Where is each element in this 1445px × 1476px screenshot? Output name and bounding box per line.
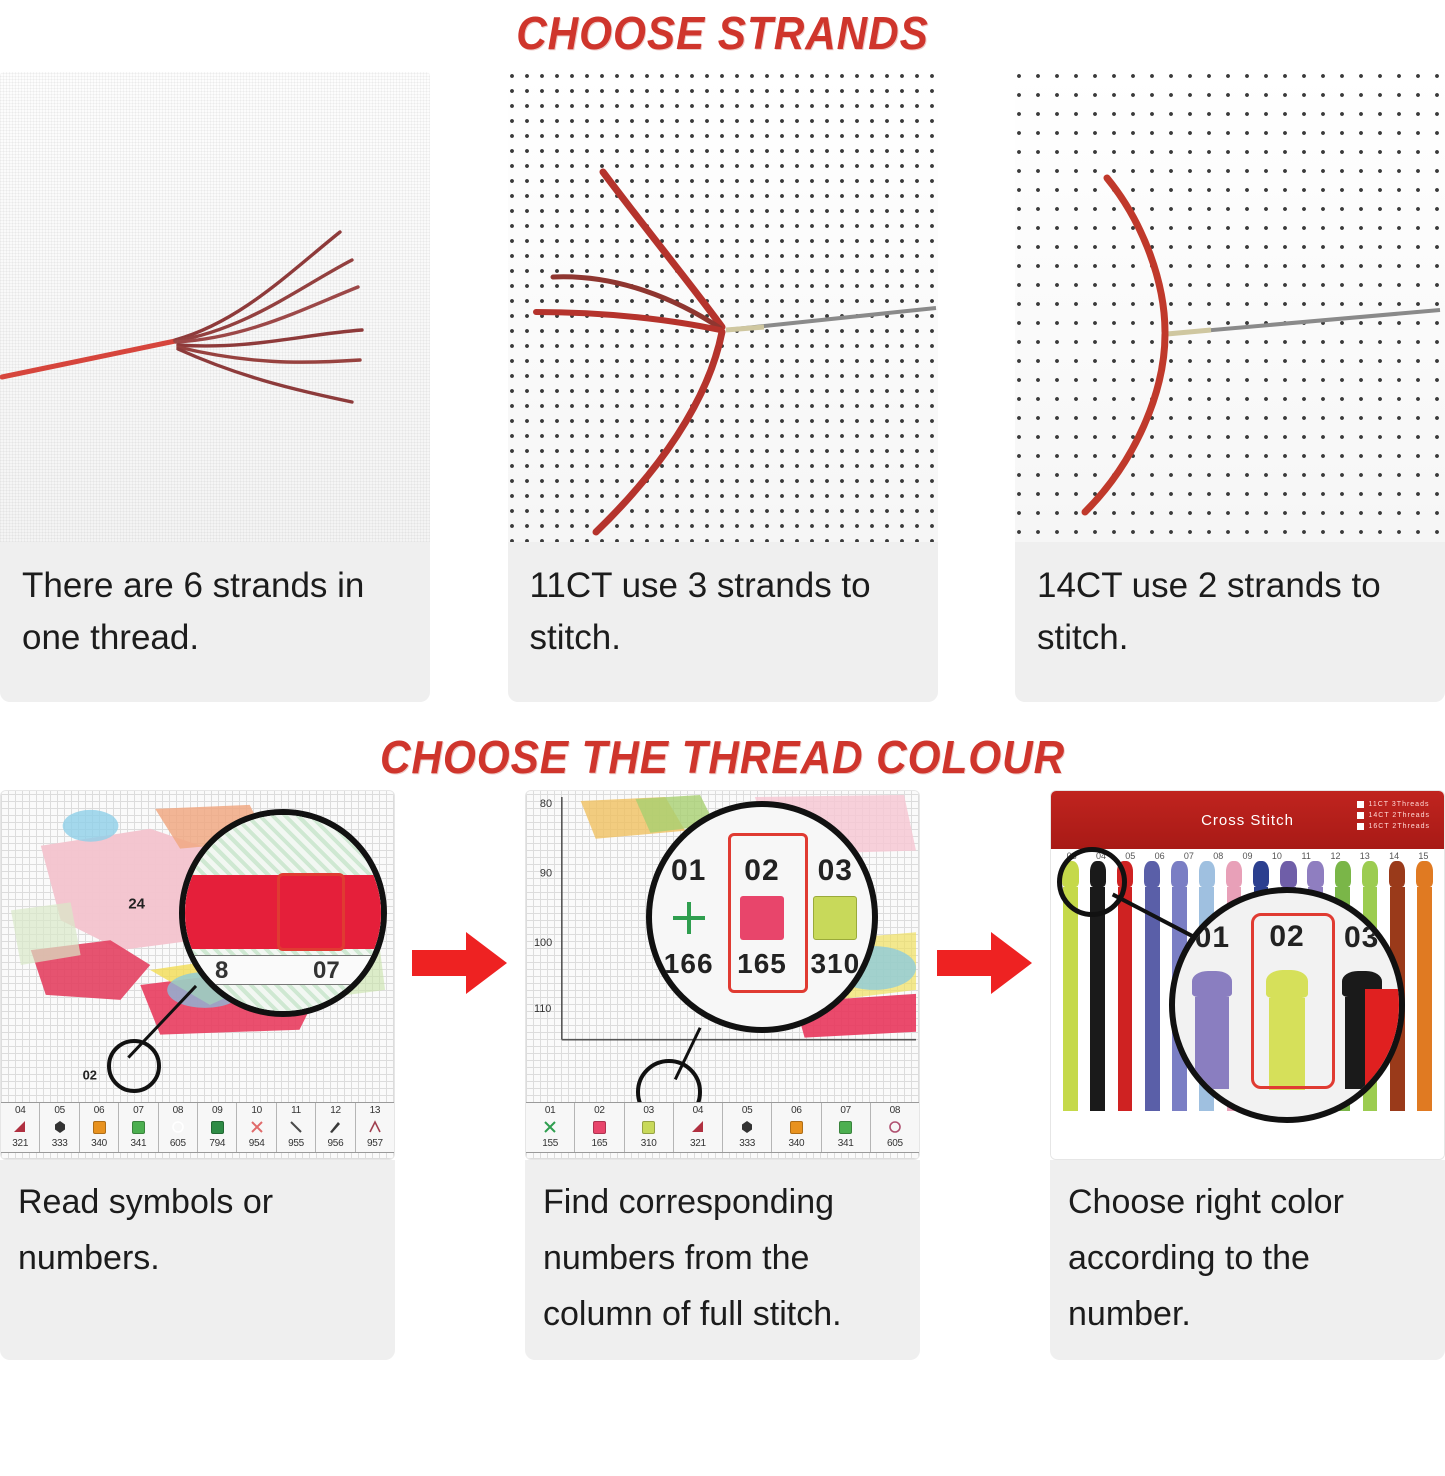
legend-cell: 04321 bbox=[674, 1103, 723, 1152]
legend-symbol-icon bbox=[526, 1117, 574, 1137]
magnified-dmc-code: 166 bbox=[664, 948, 714, 980]
magnified-code-2: 07 bbox=[313, 957, 340, 985]
svg-text:24: 24 bbox=[128, 895, 145, 912]
legend-dmc-code: 955 bbox=[277, 1137, 315, 1150]
needle-and-thread-illustration bbox=[1015, 72, 1445, 542]
card-14ct: 14CT use 2 strands to stitch. bbox=[1015, 72, 1445, 702]
caption-read-symbols: Read symbols or numbers. bbox=[0, 1160, 395, 1360]
legend-number: 07 bbox=[119, 1104, 157, 1117]
magnified-columns: 01 166 02 165 03 bbox=[652, 807, 872, 1027]
pattern-legend-table: 0432105333063400734108605097941095411955… bbox=[1, 1102, 394, 1153]
legend-number: 05 bbox=[40, 1104, 78, 1117]
legend-symbol-icon bbox=[119, 1117, 157, 1137]
green-cross-symbol-icon bbox=[667, 896, 711, 940]
legend-symbol-icon bbox=[871, 1117, 919, 1137]
11ct-three-strands-photo bbox=[508, 72, 938, 542]
magnified-red-stitches bbox=[185, 875, 381, 949]
legend-dmc-code: 954 bbox=[237, 1137, 275, 1150]
magnified-column-02: 02 165 bbox=[725, 807, 798, 1027]
legend-symbol-icon bbox=[1, 1117, 39, 1137]
arrow-1-wrap bbox=[400, 790, 520, 996]
legend-symbol-icon bbox=[237, 1117, 275, 1137]
legend-dmc-code: 165 bbox=[575, 1137, 623, 1150]
legend-symbol-icon bbox=[80, 1117, 118, 1137]
magnified-column-number: 01 bbox=[671, 854, 706, 888]
thread-colour-row: 24 02 8 07 04321053330634007341086050979… bbox=[0, 786, 1445, 1360]
legend-symbol-icon bbox=[723, 1117, 771, 1137]
legend-symbol-icon bbox=[356, 1117, 394, 1137]
locator-circle bbox=[107, 1039, 161, 1093]
skein-hank bbox=[1195, 997, 1229, 1089]
legend-dmc-code: 333 bbox=[40, 1137, 78, 1150]
legend-number: 01 bbox=[526, 1104, 574, 1117]
skein-knot bbox=[1192, 971, 1232, 997]
magnified-dmc-code: 310 bbox=[810, 948, 860, 980]
legend-number: 04 bbox=[1, 1104, 39, 1117]
legend-cell: 06340 bbox=[772, 1103, 821, 1152]
pattern-chart-symbols-photo: 24 02 8 07 04321053330634007341086050979… bbox=[0, 790, 395, 1160]
legend-symbol-icon bbox=[575, 1117, 623, 1137]
legend-dmc-code: 956 bbox=[316, 1137, 354, 1150]
svg-text:90: 90 bbox=[540, 868, 552, 880]
legend-dmc-code: 321 bbox=[1, 1137, 39, 1150]
legend-number: 08 bbox=[871, 1104, 919, 1117]
legend-dmc-code: 605 bbox=[159, 1137, 197, 1150]
caption-14ct: 14CT use 2 strands to stitch. bbox=[1015, 542, 1445, 702]
legend-cell: 08605 bbox=[871, 1103, 919, 1152]
legend-dmc-code: 340 bbox=[80, 1137, 118, 1150]
legend-number: 07 bbox=[822, 1104, 870, 1117]
legend-number: 08 bbox=[159, 1104, 197, 1117]
magnified-column-number: 02 bbox=[744, 854, 779, 888]
magnified-column-number: 03 bbox=[1344, 921, 1379, 955]
caption-choose-colour: Choose right color according to the numb… bbox=[1050, 1160, 1445, 1360]
legend-number: 13 bbox=[356, 1104, 394, 1117]
legend-symbol-icon bbox=[198, 1117, 236, 1137]
arrow-2-wrap bbox=[925, 790, 1045, 996]
magnified-code-1: 8 bbox=[215, 957, 228, 985]
magnified-dmc-code: 165 bbox=[737, 948, 787, 980]
card-choose-colour: Cross Stitch 11CT 3Threads 14CT 2Threads… bbox=[1050, 790, 1445, 1360]
legend-number: 11 bbox=[277, 1104, 315, 1117]
legend-number: 06 bbox=[80, 1104, 118, 1117]
legend-cell: 08605 bbox=[159, 1103, 198, 1152]
needle-and-thread-illustration bbox=[508, 72, 938, 542]
14ct-two-strands-photo bbox=[1015, 72, 1445, 542]
legend-cell: 10954 bbox=[237, 1103, 276, 1152]
legend-number: 04 bbox=[674, 1104, 722, 1117]
caption-six-strands: There are 6 strands in one thread. bbox=[0, 542, 430, 702]
legend-cell: 04321 bbox=[1, 1103, 40, 1152]
legend-number: 06 bbox=[772, 1104, 820, 1117]
legend-symbol-icon bbox=[772, 1117, 820, 1137]
skein-hank bbox=[1269, 998, 1305, 1090]
legend-cell: 12956 bbox=[316, 1103, 355, 1152]
legend-dmc-code: 333 bbox=[723, 1137, 771, 1150]
svg-text:100: 100 bbox=[534, 937, 552, 949]
thread-colour-card-photo: Cross Stitch 11CT 3Threads 14CT 2Threads… bbox=[1050, 790, 1445, 1160]
legend-number: 09 bbox=[198, 1104, 236, 1117]
legend-symbol-icon bbox=[822, 1117, 870, 1137]
legend-dmc-code: 310 bbox=[625, 1137, 673, 1150]
legend-cell: 06340 bbox=[80, 1103, 119, 1152]
magnifier-circle: 01 02 03 bbox=[1169, 887, 1405, 1123]
legend-cell: 05333 bbox=[723, 1103, 772, 1152]
card-read-symbols: 24 02 8 07 04321053330634007341086050979… bbox=[0, 790, 395, 1360]
caption-11ct: 11CT use 3 strands to stitch. bbox=[508, 542, 938, 702]
page-title-choose-strands: CHOOSE STRANDS bbox=[58, 0, 1387, 62]
magnifier-circle: 01 166 02 165 03 bbox=[646, 801, 878, 1033]
legend-number: 05 bbox=[723, 1104, 771, 1117]
six-strand-thread-photo bbox=[0, 72, 430, 542]
legend-cell: 07341 bbox=[119, 1103, 158, 1152]
magnified-column-number: 03 bbox=[818, 854, 853, 888]
legend-cell: 09794 bbox=[198, 1103, 237, 1152]
pink-square-symbol-icon bbox=[740, 896, 784, 940]
legend-number: 03 bbox=[625, 1104, 673, 1117]
legend-dmc-code: 341 bbox=[822, 1137, 870, 1150]
legend-dmc-code: 321 bbox=[674, 1137, 722, 1150]
legend-cell: 03310 bbox=[625, 1103, 674, 1152]
legend-dmc-code: 957 bbox=[356, 1137, 394, 1150]
thread-strands-illustration bbox=[0, 72, 430, 542]
legend-dmc-code: 340 bbox=[772, 1137, 820, 1150]
legend-number: 12 bbox=[316, 1104, 354, 1117]
magnified-column-02: 02 bbox=[1250, 893, 1325, 1117]
red-skein-edge bbox=[1365, 989, 1399, 1089]
pattern-chart-numbers-photo: 80 90 100 110 01 166 bbox=[525, 790, 920, 1160]
legend-cell: 02165 bbox=[575, 1103, 624, 1152]
yellow-green-square-symbol-icon bbox=[813, 896, 857, 940]
svg-text:80: 80 bbox=[540, 798, 552, 810]
page-title-choose-thread-colour: CHOOSE THE THREAD COLOUR bbox=[58, 728, 1387, 786]
legend-symbol-icon bbox=[40, 1117, 78, 1137]
legend-dmc-code: 605 bbox=[871, 1137, 919, 1150]
card-six-strands: There are 6 strands in one thread. bbox=[0, 72, 430, 702]
svg-text:110: 110 bbox=[534, 1003, 551, 1015]
legend-symbol-icon bbox=[277, 1117, 315, 1137]
legend-number: 10 bbox=[237, 1104, 275, 1117]
card-find-numbers: 80 90 100 110 01 166 bbox=[525, 790, 920, 1360]
legend-dmc-code: 155 bbox=[526, 1137, 574, 1150]
legend-dmc-code: 341 bbox=[119, 1137, 157, 1150]
legend-cell: 11955 bbox=[277, 1103, 316, 1152]
strands-row: There are 6 strands in one thread. 11CT … bbox=[0, 62, 1445, 702]
skein-knot bbox=[1266, 970, 1308, 998]
magnified-column-number: 01 bbox=[1195, 921, 1230, 955]
legend-symbol-icon bbox=[159, 1117, 197, 1137]
caption-find-numbers: Find corresponding numbers from the colu… bbox=[525, 1160, 920, 1360]
legend-cell: 05333 bbox=[40, 1103, 79, 1152]
legend-cell: 07341 bbox=[822, 1103, 871, 1152]
magnified-column-number: 02 bbox=[1269, 920, 1304, 954]
magnifier-circle: 8 07 bbox=[179, 809, 387, 1017]
legend-number: 02 bbox=[575, 1104, 623, 1117]
card-11ct: 11CT use 3 strands to stitch. bbox=[508, 72, 938, 702]
legend-dmc-code: 794 bbox=[198, 1137, 236, 1150]
legend-symbol-icon bbox=[316, 1117, 354, 1137]
legend-symbol-icon bbox=[625, 1117, 673, 1137]
right-arrow-icon bbox=[412, 930, 508, 996]
right-arrow-icon bbox=[937, 930, 1033, 996]
legend-cell: 13957 bbox=[356, 1103, 394, 1152]
legend-symbol-icon bbox=[674, 1117, 722, 1137]
pattern-legend-table: 0115502165033100432105333063400734108605 bbox=[526, 1102, 919, 1153]
svg-text:02: 02 bbox=[83, 1067, 97, 1082]
legend-cell: 01155 bbox=[526, 1103, 575, 1152]
